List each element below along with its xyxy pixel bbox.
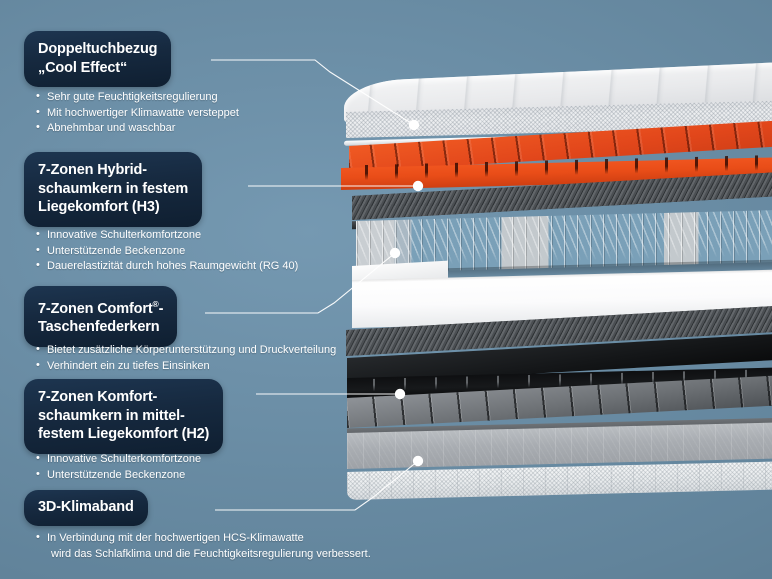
callout-komfortschaumkern-line-3: festem Liegekomfort (H2): [38, 425, 209, 444]
list-item: wird das Schlafklima und die Feuchtigkei…: [36, 547, 371, 563]
list-item: Dauerelastizität durch hohes Raumgewicht…: [36, 259, 298, 275]
callout-taschenfederkern-line-2: Taschenfederkern: [38, 318, 163, 337]
bullets-hybridschaumkern: Innovative Schulterkomfortzone Unterstüt…: [36, 228, 298, 275]
callout-doppeltuchbezug-line-2: „Cool Effect“: [38, 59, 157, 78]
bullets-komfortschaumkern: Innovative Schulterkomfortzone Unterstüt…: [36, 452, 201, 483]
callout-hybridschaumkern-line-3: Liegekomfort (H3): [38, 198, 188, 217]
callout-komfortschaumkern[interactable]: 7-Zonen Komfort- schaumkern in mittel- f…: [24, 379, 223, 454]
list-item: Mit hochwertiger Klimawatte versteppet: [36, 106, 239, 122]
callout-taschenfederkern-line-1-text: 7-Zonen Comfort®-: [38, 301, 163, 317]
callout-taschenfederkern[interactable]: 7-Zonen Comfort®- Taschenfederkern: [24, 286, 177, 347]
list-item: Sehr gute Feuchtigkeitsregulierung: [36, 90, 239, 106]
list-item: Unterstützende Beckenzone: [36, 468, 201, 484]
callout-klimaband-line-1: 3D-Klimaband: [38, 498, 134, 517]
callout-komfortschaumkern-line-1: 7-Zonen Komfort-: [38, 388, 209, 407]
callout-hybridschaumkern[interactable]: 7-Zonen Hybrid- schaumkern in festem Lie…: [24, 152, 202, 227]
list-item: Unterstützende Beckenzone: [36, 244, 298, 260]
callout-doppeltuchbezug[interactable]: Doppeltuchbezug „Cool Effect“: [24, 31, 171, 87]
list-item: Bietet zusätzliche Körperunterstützung u…: [36, 343, 336, 359]
bullets-klimaband: In Verbindung mit der hochwertigen HCS-K…: [36, 531, 371, 562]
callout-taschenfederkern-line-1: 7-Zonen Comfort®-: [38, 295, 163, 318]
list-item: In Verbindung mit der hochwertigen HCS-K…: [36, 531, 371, 547]
list-item: Innovative Schulterkomfortzone: [36, 452, 201, 468]
callout-doppeltuchbezug-line-1: Doppeltuchbezug: [38, 40, 157, 59]
product-infographic: Doppeltuchbezug „Cool Effect“ Sehr gute …: [0, 0, 772, 579]
list-item: Innovative Schulterkomfortzone: [36, 228, 298, 244]
callout-hybridschaumkern-line-1: 7-Zonen Hybrid-: [38, 161, 188, 180]
climate-band-face: [347, 422, 772, 469]
list-item: Abnehmbar und waschbar: [36, 121, 239, 137]
callout-hybridschaumkern-line-2: schaumkern in festem: [38, 180, 188, 199]
callout-klimaband[interactable]: 3D-Klimaband: [24, 490, 148, 526]
bullets-doppeltuchbezug: Sehr gute Feuchtigkeitsregulierung Mit h…: [36, 90, 239, 137]
bullets-taschenfederkern: Bietet zusätzliche Körperunterstützung u…: [36, 343, 336, 374]
callout-komfortschaumkern-line-2: schaumkern in mittel-: [38, 407, 209, 426]
list-item: Verhindert ein zu tiefes Einsinken: [36, 359, 336, 375]
mattress-layer-climate-band: [347, 428, 772, 508]
